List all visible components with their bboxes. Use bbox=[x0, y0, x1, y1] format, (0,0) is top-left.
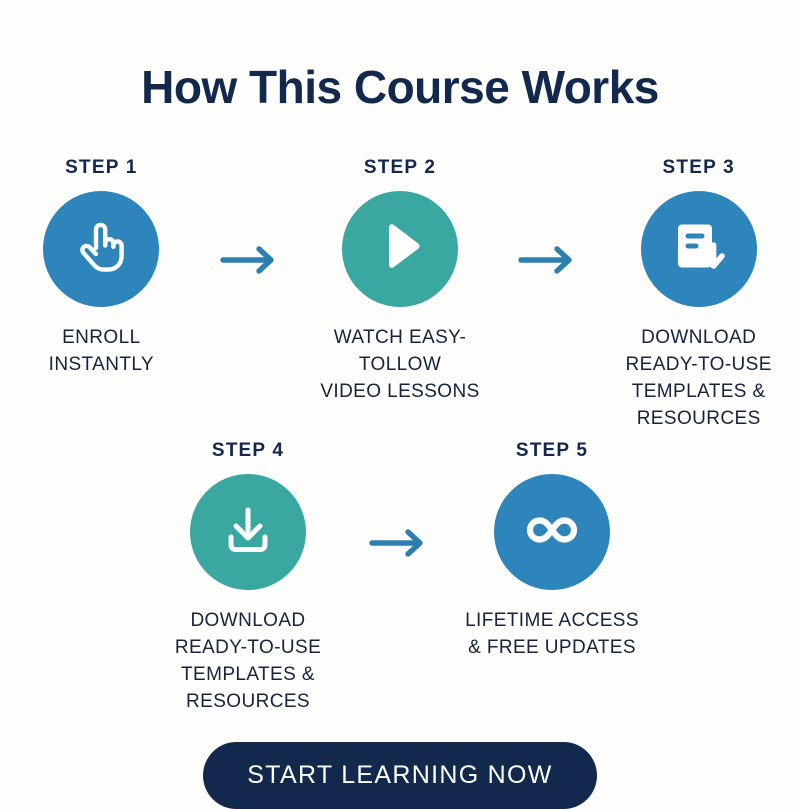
step-1-label: STEP 1 bbox=[65, 157, 137, 179]
cta-container: START LEARNING NOW bbox=[0, 742, 800, 809]
steps-row-one: STEP 1 ENROLL INSTANTLY STEP 2 bbox=[0, 157, 800, 433]
arrow-right-icon-1 bbox=[203, 245, 299, 275]
step-4-caption: DOWNLOAD READY-TO-USE TEMPLATES & RESOUR… bbox=[144, 608, 352, 716]
start-learning-now-button[interactable]: START LEARNING NOW bbox=[203, 742, 596, 809]
steps-row-two: STEP 4 DOWNLOAD READY-TO-USE TEMPLATES &… bbox=[0, 440, 800, 716]
step-2-label: STEP 2 bbox=[364, 157, 436, 179]
step-3-label: STEP 3 bbox=[663, 157, 735, 179]
arrow-right-icon-3 bbox=[352, 528, 448, 558]
step-2-caption: WATCH EASY-TOLLOW VIDEO LESSONS bbox=[299, 325, 502, 406]
step-5-icon-circle bbox=[494, 474, 610, 590]
download-tray-icon bbox=[217, 499, 279, 566]
step-4-label: STEP 4 bbox=[212, 440, 284, 462]
infographic-poster: How This Course Works STEP 1 ENROLL INST… bbox=[0, 0, 800, 800]
step-5-label: STEP 5 bbox=[516, 440, 588, 462]
step-card-3[interactable]: STEP 3 DOWNLOAD READY-TO-USE TEMPLATES &… bbox=[597, 157, 800, 433]
step-card-5[interactable]: STEP 5 LIFETIME ACCESS & FREE UPDATES bbox=[448, 440, 656, 662]
page-title: How This Course Works bbox=[141, 62, 659, 113]
step-card-4[interactable]: STEP 4 DOWNLOAD READY-TO-USE TEMPLATES &… bbox=[144, 440, 352, 716]
document-download-icon bbox=[668, 215, 730, 282]
play-icon bbox=[369, 215, 431, 282]
step-3-icon-circle bbox=[641, 191, 757, 307]
infinity-icon bbox=[520, 498, 584, 567]
step-card-1[interactable]: STEP 1 ENROLL INSTANTLY bbox=[0, 157, 203, 379]
arrow-right-icon-2 bbox=[501, 245, 597, 275]
step-2-icon-circle bbox=[342, 191, 458, 307]
step-1-caption: ENROLL INSTANTLY bbox=[49, 325, 154, 379]
step-5-caption: LIFETIME ACCESS & FREE UPDATES bbox=[465, 608, 639, 662]
step-card-2[interactable]: STEP 2 WATCH EASY-TOLLOW VIDEO LESSONS bbox=[299, 157, 502, 406]
step-3-caption: DOWNLOAD READY-TO-USE TEMPLATES & RESOUR… bbox=[626, 325, 772, 433]
pointing-hand-icon bbox=[69, 214, 133, 283]
step-1-icon-circle bbox=[43, 191, 159, 307]
step-4-icon-circle bbox=[190, 474, 306, 590]
